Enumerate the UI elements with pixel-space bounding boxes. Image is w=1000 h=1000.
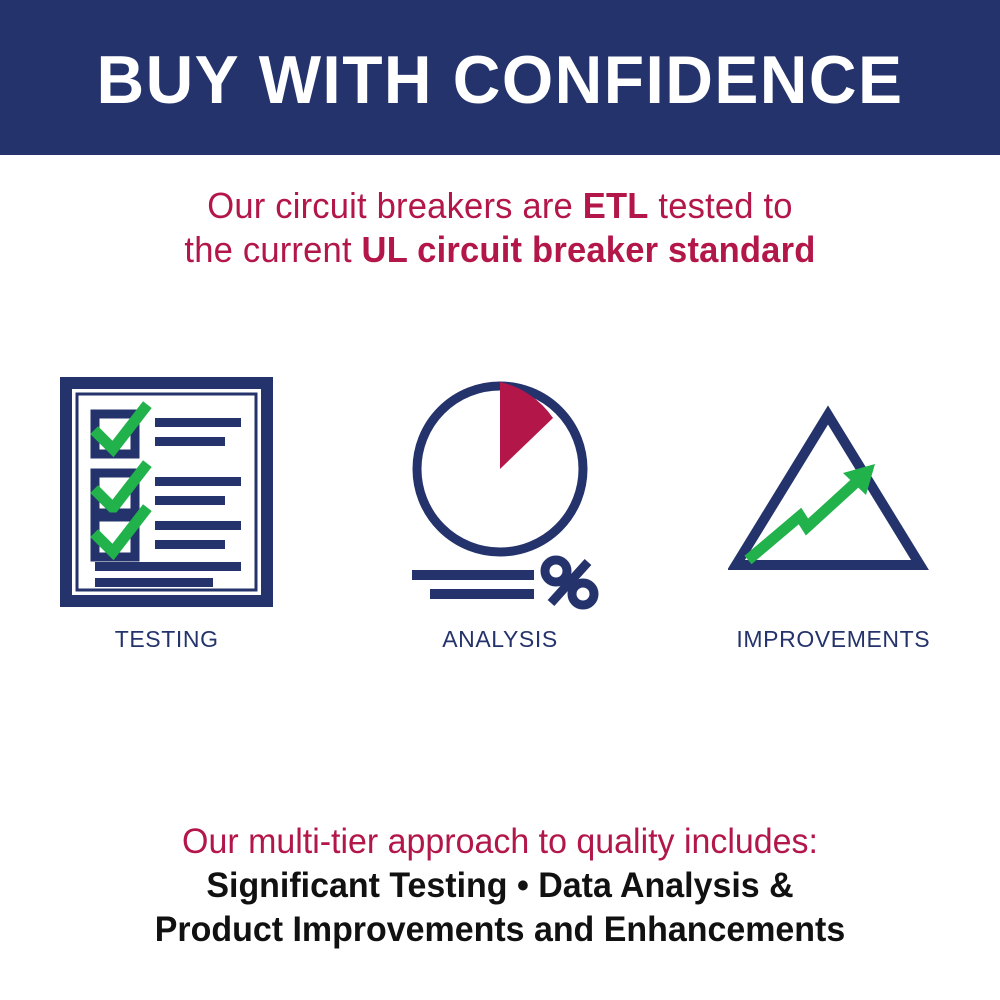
footer-detail-line-2: Product Improvements and Enhancements xyxy=(15,908,985,952)
footer-lead-line: Our multi-tier approach to quality inclu… xyxy=(15,820,985,864)
text-line-4 xyxy=(95,562,241,571)
footer-detail-line-1: Significant Testing • Data Analysis & xyxy=(15,864,985,908)
text-line-1a xyxy=(155,418,241,427)
feature-analysis: ANALYSIS xyxy=(340,372,660,653)
growth-triangle-icon-art xyxy=(728,372,938,612)
footer-text-block: Our multi-tier approach to quality inclu… xyxy=(0,820,1000,952)
growth-triangle-icon xyxy=(728,397,938,587)
header-band: BUY WITH CONFIDENCE xyxy=(0,0,1000,155)
subtitle-ul-standard-emphasis: UL circuit breaker standard xyxy=(362,229,816,270)
analysis-bar-1 xyxy=(412,570,534,580)
pie-chart-icon-art xyxy=(400,372,600,612)
text-line-3a xyxy=(155,521,241,530)
feature-improvements: IMPROVEMENTS xyxy=(673,372,993,653)
feature-icon-row: TESTING xyxy=(0,372,1000,692)
analysis-bar-2 xyxy=(430,589,534,599)
feature-label-analysis: ANALYSIS xyxy=(442,626,558,653)
checklist-icon xyxy=(59,376,274,608)
text-line-2b xyxy=(155,496,225,505)
subtitle-line-2-text-a: the current xyxy=(184,229,361,270)
feature-testing: TESTING xyxy=(7,372,327,653)
subtitle-line-2: the current UL circuit breaker standard xyxy=(20,228,980,272)
text-line-5 xyxy=(95,578,213,587)
subtitle-etl-emphasis: ETL xyxy=(583,185,649,226)
subtitle: Our circuit breakers are ETL tested to t… xyxy=(0,184,1000,272)
page-title: BUY WITH CONFIDENCE xyxy=(97,46,904,114)
feature-label-testing: TESTING xyxy=(115,626,219,653)
text-line-2a xyxy=(155,477,241,486)
pie-chart-icon xyxy=(400,372,600,612)
percent-symbol-icon xyxy=(545,560,594,605)
subtitle-line-1: Our circuit breakers are ETL tested to xyxy=(20,184,980,228)
buy-with-confidence-infographic: BUY WITH CONFIDENCE Our circuit breakers… xyxy=(0,0,1000,1000)
feature-label-improvements: IMPROVEMENTS xyxy=(736,626,930,653)
checklist-icon-art xyxy=(59,372,274,612)
text-line-3b xyxy=(155,540,225,549)
text-line-1b xyxy=(155,437,225,446)
subtitle-line-1-text-c: tested to xyxy=(649,185,793,226)
subtitle-line-1-text-a: Our circuit breakers are xyxy=(207,185,582,226)
